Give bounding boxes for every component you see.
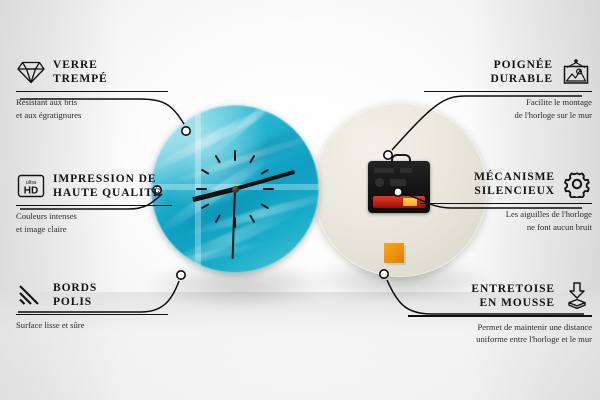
callout-head: ultra HD IMPRESSION DE HAUTE QUALITÉ	[16, 172, 172, 201]
clock-minute-hand	[234, 170, 295, 191]
clock-hand-cap	[232, 186, 239, 193]
callout-title: POIGNÉE DURABLE	[490, 58, 553, 87]
callout-title: BORDS POLIS	[53, 281, 97, 310]
callout-polished-edges: BORDS POLIS Surface lisse et sûre	[16, 281, 168, 332]
callout-silent-movement: MÉCANISME SILENCIEUX Les aiguilles de l'…	[420, 170, 592, 233]
callout-hd-print: ultra HD IMPRESSION DE HAUTE QUALITÉ Cou…	[16, 172, 172, 235]
callout-head: POIGNÉE DURABLE	[424, 58, 592, 87]
callout-description: Résistant aux bris et aux égratignures	[16, 96, 168, 120]
callout-description: Facilite le montage de l'horloge sur le …	[424, 96, 592, 120]
feather-streak	[151, 238, 271, 273]
callout-tempered-glass: VERRE TREMPÉ Résistant aux bris et aux é…	[16, 58, 168, 121]
framed-picture-icon	[560, 58, 592, 86]
diagonal-lines-icon	[16, 282, 46, 308]
callout-rule	[16, 205, 172, 207]
feather-shadow	[212, 114, 319, 187]
callout-title: IMPRESSION DE HAUTE QUALITÉ	[53, 172, 162, 201]
callout-head: VERRE TREMPÉ	[16, 58, 168, 87]
callout-title: MÉCANISME SILENCIEUX	[474, 170, 555, 199]
infographic-canvas: VERRE TREMPÉ Résistant aux bris et aux é…	[0, 0, 600, 400]
callout-title: ENTRETOISE EN MOUSSE	[471, 282, 555, 311]
feather-streak	[164, 130, 319, 189]
callout-rule	[16, 91, 168, 93]
svg-text:HD: HD	[24, 186, 38, 197]
feather-streak	[204, 105, 299, 163]
wall-clock-front	[151, 105, 319, 273]
callout-head: BORDS POLIS	[16, 281, 168, 310]
diamond-icon	[16, 59, 46, 85]
clock-hour-hand	[192, 187, 236, 202]
callout-head: MÉCANISME SILENCIEUX	[420, 170, 592, 199]
callout-rule	[408, 315, 592, 317]
movement-hanger-icon	[391, 154, 411, 166]
callout-foam-spacer: ENTRETOISE EN MOUSSE Permet de maintenir…	[408, 281, 592, 345]
callout-title: VERRE TREMPÉ	[53, 58, 108, 87]
callout-description: Couleurs intenses et image claire	[16, 210, 172, 234]
movement-detail	[374, 168, 394, 173]
feather-streak	[158, 204, 302, 273]
callout-description: Permet de maintenir une distance uniform…	[408, 321, 592, 345]
callout-rule	[16, 314, 168, 316]
battery-label	[403, 198, 417, 206]
ultra-hd-icon: ultra HD	[16, 173, 46, 199]
glass-reflection-vertical	[195, 105, 201, 273]
callout-description: Les aiguilles de l'horloge ne font aucun…	[420, 208, 592, 232]
callout-description: Surface lisse et sûre	[16, 319, 168, 331]
callout-durable-hanger: POIGNÉE DURABLE Facilite le montage de l…	[424, 58, 592, 121]
gear-icon	[562, 170, 592, 198]
callout-head: ENTRETOISE EN MOUSSE	[408, 281, 592, 311]
foam-spacer	[384, 243, 404, 263]
callout-rule	[420, 203, 592, 205]
feather-streak	[151, 105, 286, 176]
battery	[373, 196, 425, 208]
connector-dot-polished-edges	[177, 271, 185, 279]
movement-detail	[400, 168, 412, 173]
movement-detail	[390, 179, 406, 186]
movement-detail	[375, 178, 384, 187]
callout-rule	[424, 91, 592, 93]
clock-second-hand	[232, 189, 236, 259]
press-layers-icon	[562, 281, 592, 311]
